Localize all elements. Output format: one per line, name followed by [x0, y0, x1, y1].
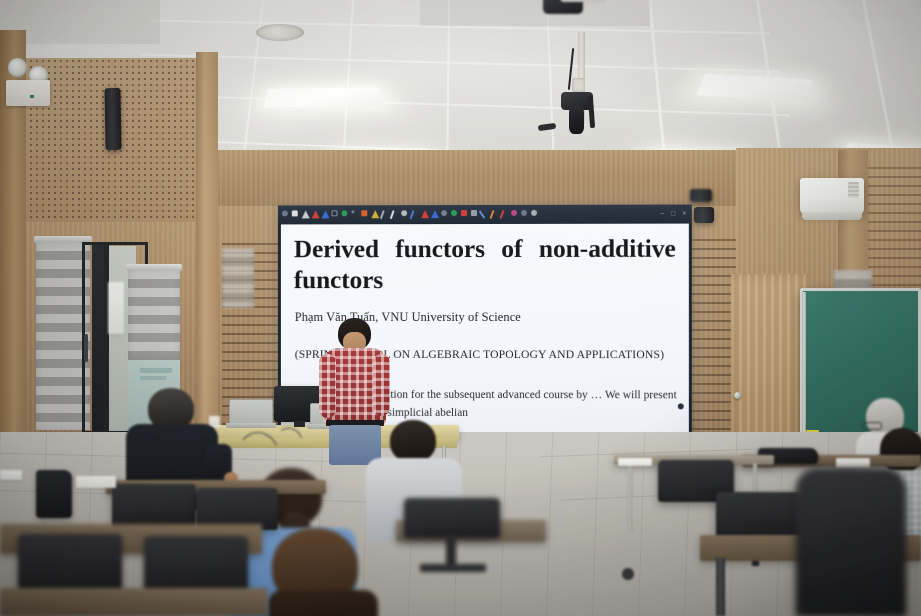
monitor-stand	[294, 421, 305, 427]
bag-on-floor	[36, 470, 72, 518]
door-signage	[108, 282, 124, 334]
grey-marker-icon[interactable]	[441, 210, 449, 219]
pen-white-icon[interactable]	[391, 210, 399, 219]
attendee-head	[390, 420, 436, 462]
red-pen-icon[interactable]	[501, 209, 509, 218]
chart-icon[interactable]	[481, 209, 489, 218]
wall-speaker-left	[104, 88, 121, 150]
door-handle	[84, 334, 88, 362]
window-sticker	[140, 376, 166, 380]
contrast-icon[interactable]	[531, 209, 539, 218]
papers-on-desk	[618, 458, 652, 466]
slide-title-line1: Derived functors of non-additive	[294, 234, 676, 265]
settings-icon[interactable]	[521, 209, 529, 218]
green-shape-icon[interactable]	[341, 210, 349, 219]
air-conditioner	[800, 178, 864, 214]
laptop-base	[226, 423, 276, 428]
wall-speaker-right	[694, 207, 714, 223]
papers	[836, 458, 870, 468]
desk-caster	[622, 568, 634, 580]
chair-empty[interactable]	[716, 492, 802, 540]
maximize-button[interactable]: □	[669, 210, 678, 218]
presenter-arm-right	[373, 354, 390, 416]
red-marker-icon[interactable]	[421, 210, 429, 219]
small-dot-icon[interactable]	[351, 210, 359, 219]
chair-front-center[interactable]	[144, 536, 248, 592]
paper-sheet	[76, 476, 116, 488]
desk-foreground-left	[0, 588, 268, 616]
flag-icon[interactable]	[302, 210, 310, 219]
lecture-hall-photo: − □ × Derived functors of non-additive f…	[0, 0, 921, 616]
yellow-shape-icon[interactable]	[371, 210, 379, 219]
annotation-toolbar[interactable]: − □ ×	[278, 204, 692, 223]
green-marker-icon[interactable]	[451, 210, 459, 219]
ceiling-light-panel	[263, 88, 385, 108]
door-knob[interactable]	[734, 392, 741, 399]
paper-sheet	[0, 470, 22, 480]
chair-front-left[interactable]	[18, 534, 122, 592]
desk-leg	[628, 463, 632, 531]
emergency-light	[6, 80, 50, 106]
projector	[543, 0, 583, 14]
ceiling-vent	[256, 24, 304, 41]
chair-foreground-right[interactable]	[796, 468, 906, 616]
attendee-glasses	[862, 422, 882, 430]
pen-grey-icon[interactable]	[381, 210, 389, 219]
presenter-arm-left	[319, 354, 336, 418]
window-blind-mid	[128, 270, 180, 360]
wall-speaker-corner	[690, 189, 712, 202]
window-blind-far	[222, 248, 254, 308]
wall-slats-right	[692, 232, 736, 438]
window-sticker	[140, 368, 172, 373]
slide-title: Derived functors of non-additive functor…	[294, 234, 676, 296]
ac-vent-grille	[848, 182, 859, 198]
camera-bracket	[572, 78, 585, 92]
select-icon[interactable]	[292, 210, 300, 219]
eraser-icon[interactable]	[401, 210, 409, 219]
blue-marker-icon[interactable]	[431, 210, 439, 219]
pen-blue-icon[interactable]	[411, 210, 419, 219]
slide-title-line2: functors	[294, 264, 676, 295]
close-button[interactable]: ×	[680, 210, 689, 218]
projector-mount	[560, 0, 606, 2]
camera-lens	[569, 106, 584, 134]
desk-leg	[716, 558, 725, 616]
chair-occupied[interactable]	[112, 484, 196, 528]
attendee-torso	[268, 590, 378, 616]
laptop-screen	[229, 399, 273, 425]
chair-foreground-center[interactable]	[404, 498, 500, 538]
chair-base	[420, 564, 486, 572]
emergency-light-indicator	[30, 95, 34, 98]
blue-shape-icon[interactable]	[322, 210, 330, 219]
orange-square-icon[interactable]	[361, 210, 369, 219]
ac-louver	[802, 212, 862, 220]
minimize-button[interactable]: −	[658, 210, 667, 218]
magenta-icon[interactable]	[511, 209, 519, 218]
emergency-light-head	[8, 58, 27, 77]
chair-post	[446, 534, 456, 568]
cursor-icon[interactable]	[282, 210, 290, 219]
orange-pen-icon[interactable]	[491, 209, 499, 218]
red-x-icon[interactable]	[461, 210, 469, 219]
wall-post-left	[196, 52, 218, 452]
outline-shape-icon[interactable]	[332, 210, 340, 219]
slide-page-badge	[678, 403, 684, 409]
door-mullion	[104, 244, 109, 434]
red-shape-icon[interactable]	[312, 210, 320, 219]
